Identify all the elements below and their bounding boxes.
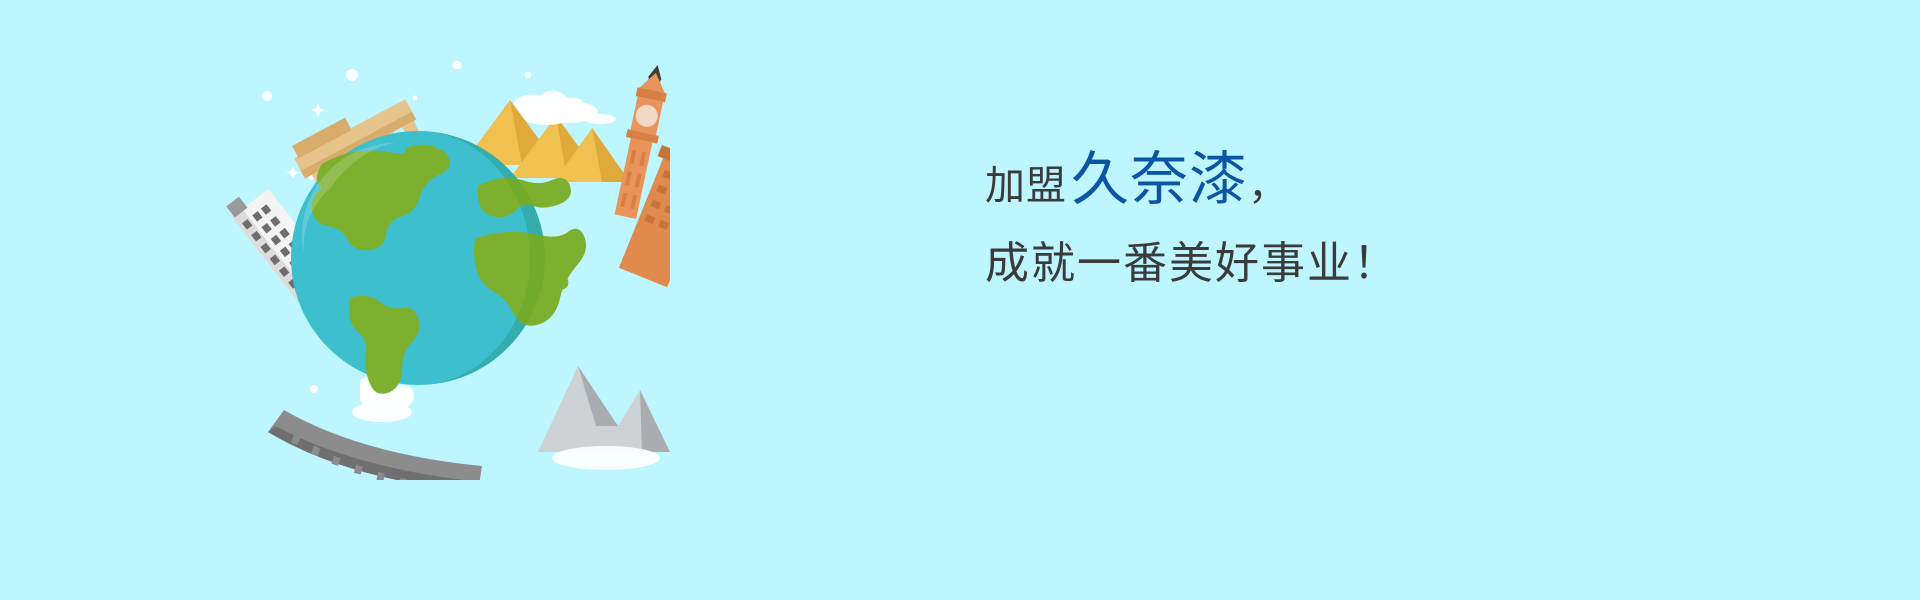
rocky-mountain-icon	[538, 366, 670, 470]
headline-comma: ，	[1248, 166, 1288, 206]
globe-illustration	[210, 60, 670, 480]
brand-name: 久奈漆	[1071, 150, 1248, 208]
headline-subtext: 成就一番美好事业！	[985, 242, 1399, 286]
headline-block: 加盟 久奈漆 ， 成就一番美好事业！	[985, 150, 1585, 302]
headline-line-2: 成就一番美好事业！	[985, 242, 1585, 302]
headline-prefix: 加盟	[985, 166, 1067, 206]
promo-banner: 加盟 久奈漆 ， 成就一番美好事业！	[0, 0, 1920, 600]
headline-line-1: 加盟 久奈漆 ，	[985, 150, 1585, 228]
